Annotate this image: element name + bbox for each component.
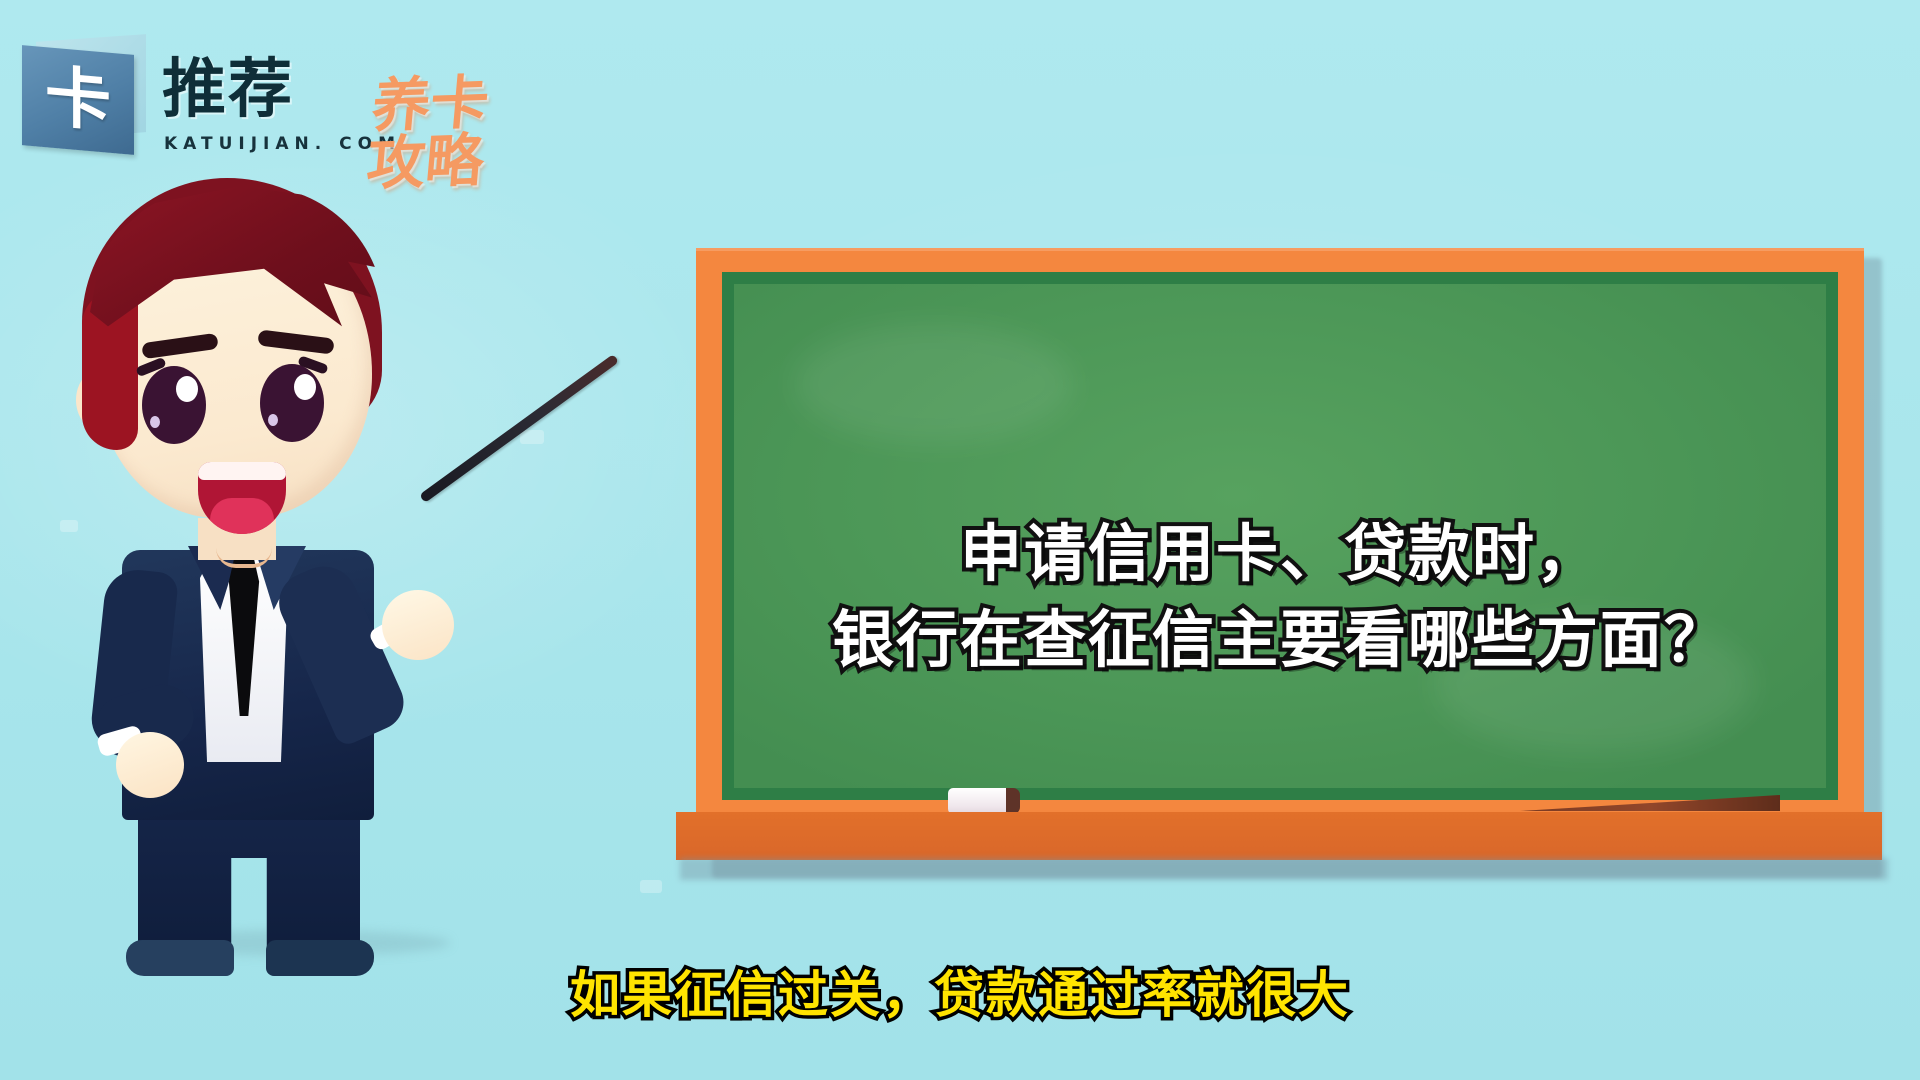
board-eraser-cap — [1006, 788, 1020, 814]
brand-url: KATUIJIAN. COM — [164, 134, 401, 154]
brand-logo[interactable]: 卡 推荐 KATUIJIAN. COM 养卡攻略 — [22, 38, 542, 158]
blackboard-frame — [696, 248, 1864, 826]
blackboard-inner-border — [722, 272, 1838, 800]
pointer-stick-icon — [419, 354, 619, 503]
blackboard-surface — [734, 284, 1826, 788]
character-eye-highlight-left — [176, 376, 198, 402]
character-mouth — [198, 462, 286, 534]
chalk-dust — [1434, 614, 1754, 754]
video-subtitle: 如果征信过关，贷款通过率就很大 — [0, 955, 1920, 1027]
background-speck — [640, 880, 662, 893]
chalk-dust — [794, 324, 1074, 444]
character-eye-glint-right — [268, 414, 278, 426]
card-logo-char: 卡 — [22, 45, 134, 155]
video-frame: 卡 推荐 KATUIJIAN. COM 养卡攻略 申请信用卡、贷款时， 银行在查… — [0, 0, 1920, 1080]
blackboard-tray-shadow — [680, 858, 1888, 880]
cartoon-teacher — [70, 170, 590, 980]
brand-name: 推荐 — [162, 58, 294, 122]
blackboard-tray — [676, 812, 1882, 860]
board-eraser-icon[interactable] — [948, 788, 1014, 814]
card-logo-mark: 卡 — [22, 38, 150, 150]
character-eye-glint-left — [150, 416, 160, 428]
character-hand-right — [382, 590, 454, 660]
character-tongue — [210, 498, 274, 534]
character-eye-right — [260, 364, 324, 442]
character-eye-left — [142, 366, 206, 444]
character-hand-left — [116, 732, 184, 798]
character-eye-highlight-right — [294, 374, 316, 400]
character-teeth — [198, 462, 286, 480]
